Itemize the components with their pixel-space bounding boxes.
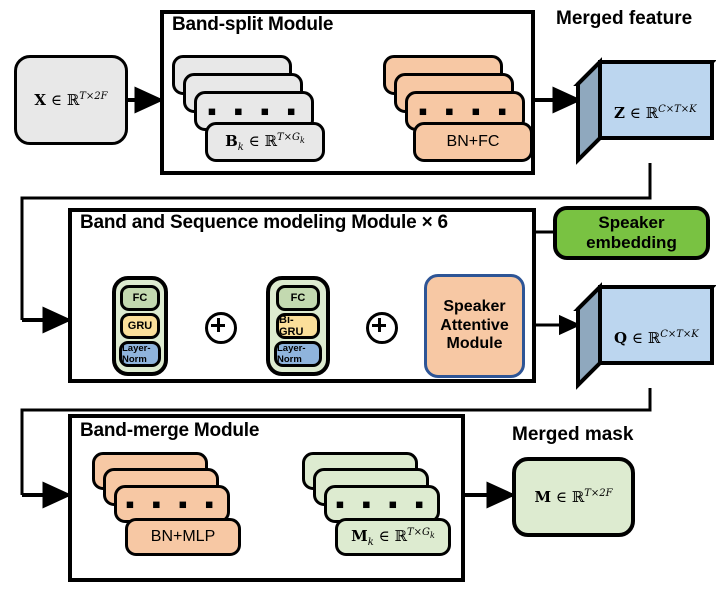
merged-mask-box: M ∈ ℝT×2F [512,457,635,537]
mask-band-label: Mk ∈ ℝT×Gk [351,527,435,548]
merged-mask-label: M ∈ ℝT×2F [534,488,612,506]
bn-mlp-card-labeled: BN+MLP [125,518,241,556]
band-merge-module-title: Band-merge Module [80,420,259,442]
bn-mlp-ellipsis: ▪ ▪ ▪ ▪ [125,491,219,517]
merged-mask-caption: Merged mask [512,424,633,446]
diagram-canvas: X ∈ ℝT×2F Band-split Module ▪ ▪ ▪ ▪ Bk ∈… [0,0,716,593]
mask-band-ellipsis: ▪ ▪ ▪ ▪ [335,491,429,517]
query-cube-label: Q ∈ ℝC×T×K [614,329,699,347]
mask-band-card-labeled: Mk ∈ ℝT×Gk [335,518,451,556]
